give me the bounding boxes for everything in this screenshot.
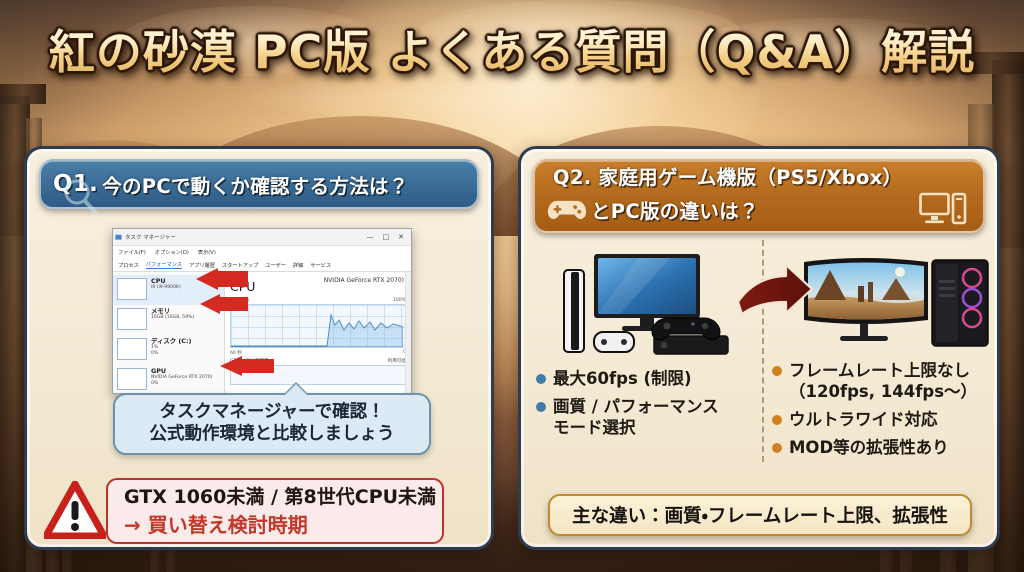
page-title-text: 紅の砂漠 PC版 よくある質問（Q&A）解説 — [49, 16, 975, 82]
taskmgr-titlebar: タスク マネージャー — □ ✕ — [113, 229, 411, 246]
taskmgr-sidebar[interactable]: CPU i9 (i9-9900K) メモリ 16GB (16GB, 59%) デ… — [113, 272, 225, 393]
list-item: フレームレート上限なし （120fps, 144fps〜） — [772, 360, 998, 402]
taskmgr-app-icon — [115, 234, 122, 241]
bullets-console: 最大60fps (制限) 画質 / パフォーマンス モード選択 — [536, 368, 752, 445]
bullet-dot-icon — [772, 415, 782, 425]
bullet-text: 最大60fps (制限) — [553, 368, 692, 389]
big-right-arrow-icon — [736, 262, 814, 324]
console-tv-illustration — [542, 248, 756, 360]
desktop-pc-icon — [919, 192, 967, 226]
bullet-text: 画質 / パフォーマンス モード選択 — [553, 396, 719, 438]
taskmgr-scrollbar[interactable] — [405, 272, 411, 393]
q1-header: Q1. 今のPCで動くか確認する方法は？ — [39, 159, 479, 209]
q2-line1-wrap: Q2. 家庭用ゲーム機版（PS5/Xbox） — [547, 168, 971, 188]
tab-users[interactable]: ユーザー — [265, 262, 286, 269]
bullets-pc: フレームレート上限なし （120fps, 144fps〜） ウルトラワイド対応 … — [772, 360, 998, 465]
cpu-sub: i9 (i9-9900K) — [151, 285, 181, 290]
bullet-dot-icon — [772, 366, 782, 376]
q2-label: Q2. — [553, 166, 591, 189]
callout-line1: タスクマネージャーで確認！ — [125, 402, 419, 424]
magnifier-icon — [61, 177, 101, 217]
warning-line2: → 買い替え検討時期 — [124, 512, 432, 539]
cpu-text: CPU i9 (i9-9900K) — [151, 278, 181, 291]
taskmgr-item-disk[interactable]: ディスク (C:) 1% 0% — [113, 335, 224, 365]
summary-box: 主な違い：画質・フレームレート上限、拡張性 — [548, 494, 972, 536]
list-item: 画質 / パフォーマンス モード選択 — [536, 396, 752, 438]
q2-header: Q2. 家庭用ゲーム機版（PS5/Xbox） とPC版の違いは？ — [533, 159, 985, 233]
gaming-pc-ultrawide-illustration — [800, 250, 996, 354]
cpu-thumbnail — [117, 278, 147, 300]
warning-line1: GTX 1060未満 / 第8世代CPU未満 — [124, 484, 432, 512]
bullet-text: MOD等の拡張性あり — [789, 437, 949, 458]
taskmgr-title-text: タスク マネージャー — [125, 233, 176, 241]
disk-pct: 0% — [151, 351, 191, 356]
taskmgr-tabs[interactable]: プロセス パフォーマンス アプリ履歴 スタートアップ ユーザー 詳細 サービス — [113, 259, 411, 272]
summary-text: 主な違い：画質・フレームレート上限、拡張性 — [572, 502, 948, 528]
q1-question-text: 今のPCで動くか確認する方法は？ — [102, 170, 408, 199]
infographic-canvas: 紅の砂漠 PC版 よくある質問（Q&A）解説 Q1. 今のPCで動くか確認する方… — [0, 0, 1024, 572]
taskmgr-menubar[interactable]: ファイル(F) オプション(O) 表示(V) — [113, 246, 411, 259]
bullet-text: ウルトラワイド対応 — [789, 409, 938, 430]
menu-view[interactable]: 表示(V) — [198, 249, 216, 256]
callout-bubble: タスクマネージャーで確認！ 公式動作環境と比較しましょう — [113, 393, 431, 455]
bullet-dot-icon — [536, 402, 546, 412]
menu-options[interactable]: オプション(O) — [155, 249, 189, 256]
warning-triangle-icon — [44, 481, 106, 539]
callout-line2: 公式動作環境と比較しましょう — [125, 424, 419, 446]
gpu-sub: NVIDIA GeForce RTX 2070) — [151, 375, 212, 380]
page-title: 紅の砂漠 PC版 よくある質問（Q&A）解説 — [0, 16, 1024, 82]
graph2-max: 利用可能 — [388, 358, 406, 364]
callout-tail — [285, 384, 307, 395]
bullet-text: フレームレート上限なし （120fps, 144fps〜） — [789, 360, 977, 402]
ruin-block — [0, 84, 46, 104]
taskmgr-window-buttons[interactable]: — □ ✕ — [367, 233, 410, 241]
utilization-line — [231, 304, 403, 347]
q2-question-line2: とPC版の違いは？ — [591, 195, 759, 224]
disk-thumbnail — [117, 338, 147, 360]
detail-device: NVIDIA GeForce RTX 2070) — [324, 277, 404, 284]
utilization-graph — [230, 304, 406, 348]
tab-processes[interactable]: プロセス — [118, 262, 139, 269]
minimize-button[interactable]: — — [367, 233, 374, 241]
menu-file[interactable]: ファイル(F) — [118, 249, 146, 256]
gamepad-icon — [547, 196, 587, 222]
close-button[interactable]: ✕ — [398, 233, 404, 241]
list-item: 最大60fps (制限) — [536, 368, 752, 389]
red-arrow-cpu — [196, 268, 248, 290]
gpu-thumbnail — [117, 368, 147, 390]
memory-text: メモリ 16GB (16GB, 59%) — [151, 308, 194, 321]
cloud — [250, 76, 670, 120]
red-arrow-gpu — [220, 356, 274, 376]
q2-line2-row: とPC版の違いは？ — [547, 192, 971, 226]
bullet-dot-icon — [772, 443, 782, 453]
tab-details[interactable]: 詳細 — [293, 262, 303, 269]
disk-text: ディスク (C:) 1% 0% — [151, 338, 191, 356]
tab-performance[interactable]: パフォーマンス — [146, 261, 182, 269]
bullet-dot-icon — [536, 374, 546, 384]
maximize-button[interactable]: □ — [383, 233, 390, 241]
gpu-text: GPU NVIDIA GeForce RTX 2070) 0% — [151, 368, 212, 386]
memory-thumbnail — [117, 308, 147, 330]
gpu-pct: 0% — [151, 381, 212, 386]
tab-services[interactable]: サービス — [310, 262, 331, 269]
taskmgr-item-gpu[interactable]: GPU NVIDIA GeForce RTX 2070) 0% — [113, 365, 224, 394]
red-arrow-memory — [200, 294, 248, 314]
list-item: ウルトラワイド対応 — [772, 409, 998, 430]
q2-question-line1: 家庭用ゲーム機版（PS5/Xbox） — [599, 166, 903, 189]
list-item: MOD等の拡張性あり — [772, 437, 998, 458]
memory-sub: 16GB (16GB, 59%) — [151, 315, 194, 320]
warning-box: GTX 1060未満 / 第8世代CPU未満 → 買い替え検討時期 — [106, 478, 444, 544]
